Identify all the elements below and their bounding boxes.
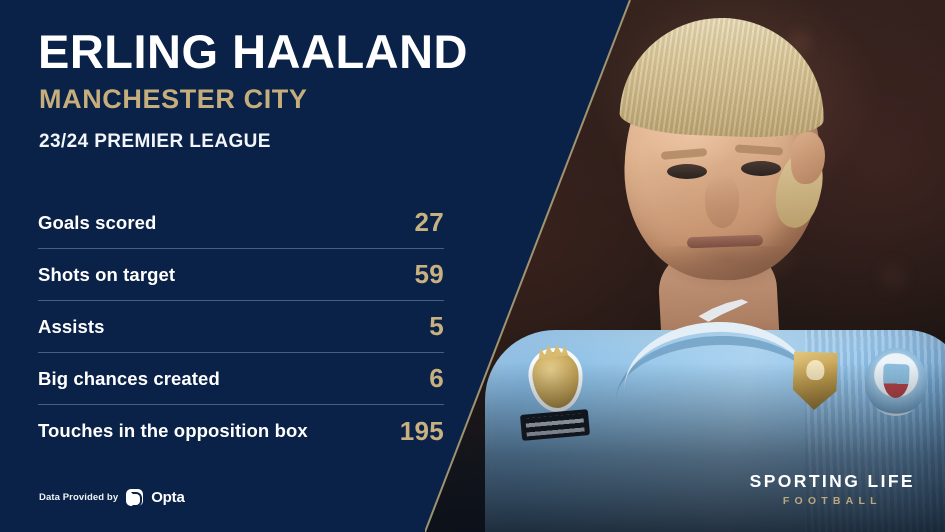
table-row: Shots on target 59 xyxy=(38,249,444,301)
stat-value: 59 xyxy=(414,259,444,290)
data-provider-credit: Data Provided by Opta xyxy=(39,489,185,506)
player-hair xyxy=(619,14,827,139)
player-eye-left xyxy=(667,164,707,179)
table-row: Goals scored 27 xyxy=(38,197,444,249)
player-eye-right xyxy=(741,161,781,176)
stat-label: Shots on target xyxy=(38,264,175,286)
club-name: MANCHESTER CITY xyxy=(39,84,308,115)
stat-label: Assists xyxy=(38,316,105,338)
jaw-shadow xyxy=(653,246,803,290)
sporting-life-logo: SPORTING LIFE FOOTBALL xyxy=(750,471,915,507)
stat-value: 5 xyxy=(429,311,444,342)
page-title: ERLING HAALAND xyxy=(38,28,468,77)
table-row: Touches in the opposition box 195 xyxy=(38,405,444,457)
stats-table: Goals scored 27 Shots on target 59 Assis… xyxy=(38,197,444,457)
stat-label: Goals scored xyxy=(38,212,156,234)
table-row: Big chances created 6 xyxy=(38,353,444,405)
brand-name: SPORTING LIFE xyxy=(750,471,915,492)
player-nose xyxy=(705,176,739,228)
stat-value: 6 xyxy=(429,363,444,394)
left-content-panel: ERLING HAALAND MANCHESTER CITY 23/24 PRE… xyxy=(0,0,470,532)
stat-value: 195 xyxy=(400,416,444,447)
opta-logo-icon xyxy=(126,489,143,506)
stat-value: 27 xyxy=(414,207,444,238)
player-stats-infographic: ETIHAD ERLING HAALAND MANCHESTER CITY 23… xyxy=(0,0,945,532)
table-row: Assists 5 xyxy=(38,301,444,353)
stat-label: Touches in the opposition box xyxy=(38,420,308,442)
data-provider-label: Data Provided by xyxy=(39,492,118,503)
opta-wordmark: Opta xyxy=(151,489,184,506)
stat-label: Big chances created xyxy=(38,368,220,390)
player-photo-panel: ETIHAD xyxy=(425,0,945,532)
competition-label: 23/24 PREMIER LEAGUE xyxy=(39,131,271,153)
brand-section: FOOTBALL xyxy=(750,495,915,507)
